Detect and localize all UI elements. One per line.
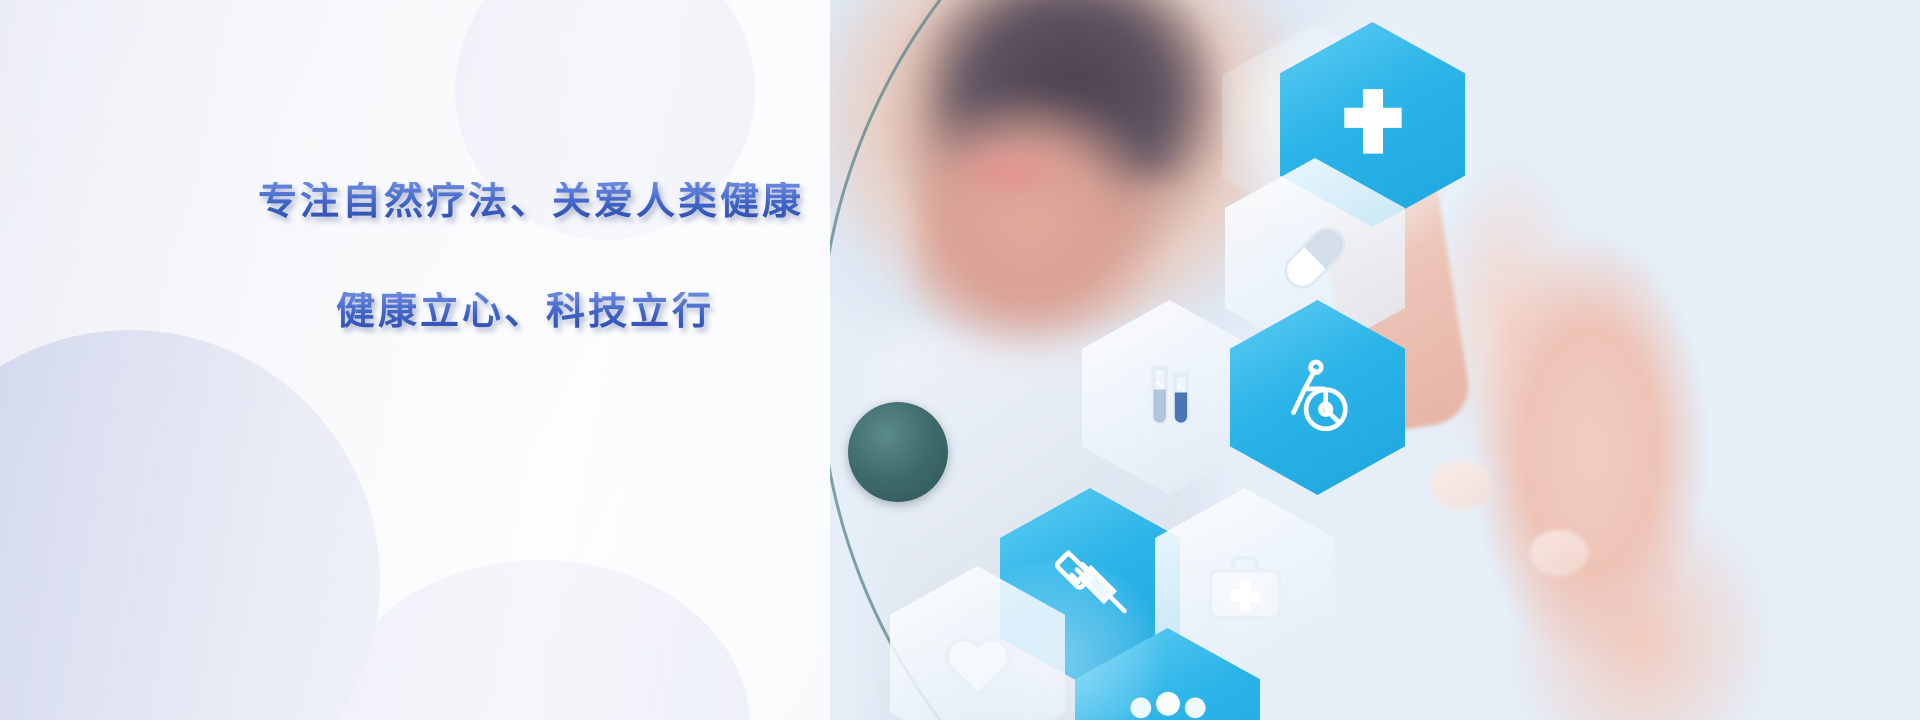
medical-cross-icon xyxy=(1330,82,1416,168)
banner-copy: 专注自然疗法、关爱人类健康 健康立心、科技立行 xyxy=(258,182,878,331)
headline-primary: 专注自然疗法、关爱人类健康 xyxy=(258,182,878,221)
hexagon-icon-cluster xyxy=(830,0,1920,720)
hexagon-wheelchair[interactable] xyxy=(1230,300,1405,495)
heart-icon xyxy=(936,622,1020,706)
wheelchair-icon xyxy=(1276,356,1360,440)
family-group-icon xyxy=(1120,683,1216,720)
medical-bag-icon xyxy=(1202,545,1288,631)
decorative-circle-bottom xyxy=(330,560,750,720)
pill-capsule-icon xyxy=(1269,212,1361,304)
doctor-photo-panel xyxy=(830,0,1920,720)
test-tubes-icon xyxy=(1129,357,1211,439)
headline-secondary: 健康立心、科技立行 xyxy=(336,292,878,331)
health-banner: 专注自然疗法、关爱人类健康 健康立心、科技立行 xyxy=(0,0,1920,720)
decorative-circle-left xyxy=(0,330,380,720)
